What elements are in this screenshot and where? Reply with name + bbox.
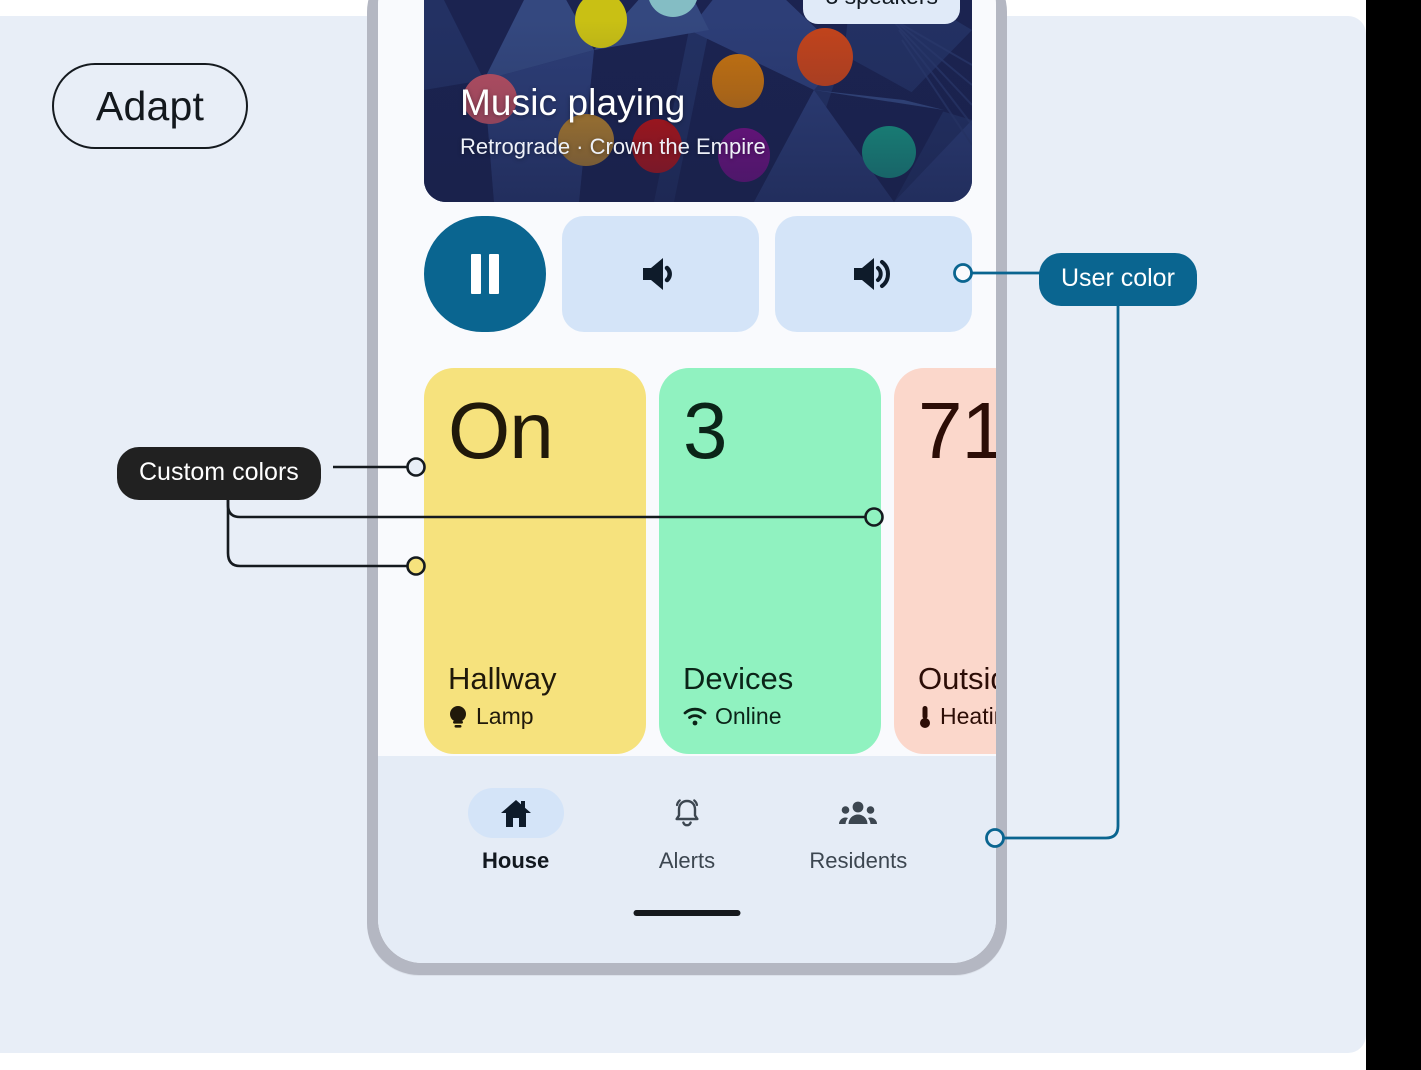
people-icon (839, 800, 877, 826)
pause-icon (468, 254, 502, 294)
pause-button[interactable] (424, 216, 546, 332)
tile-name: Hallway (448, 661, 622, 697)
annotation-custom-colors: Custom colors (117, 447, 321, 500)
tile-status: Lamp (448, 703, 622, 730)
home-icon (500, 798, 532, 828)
nav-item-house[interactable]: House (430, 788, 601, 874)
volume-up-button[interactable] (775, 216, 972, 332)
adapt-chip-label: Adapt (96, 83, 204, 130)
volume-down-button[interactable] (562, 216, 759, 332)
nav-item-alerts[interactable]: Alerts (601, 788, 772, 874)
nav-pill-alerts (639, 788, 735, 838)
tile-value: 71 (918, 394, 996, 468)
nav-label-house: House (482, 848, 549, 874)
media-card[interactable]: Music playing Retrograde · Crown the Emp… (424, 0, 972, 202)
tile-devices[interactable]: 3 Devices Online (659, 368, 881, 754)
home-indicator (634, 910, 741, 916)
volume-down-icon (641, 257, 681, 291)
tile-status-label: Heating (940, 703, 996, 730)
speakers-badge[interactable]: 3 speakers (803, 0, 960, 24)
lamp-icon (448, 705, 468, 729)
nav-label-alerts: Alerts (659, 848, 715, 874)
music-note-icon (519, 0, 563, 6)
tile-status-label: Online (715, 703, 781, 730)
tile-status-label: Lamp (476, 703, 534, 730)
status-tiles: On Hallway Lamp (424, 368, 996, 754)
nav-label-residents: Residents (809, 848, 907, 874)
adapt-chip: Adapt (52, 63, 248, 149)
bottom-navigation: House Alerts (378, 756, 996, 963)
media-subtitle: Retrograde · Crown the Empire (460, 134, 766, 160)
nav-item-residents[interactable]: Residents (773, 788, 944, 874)
volume-up-icon (852, 257, 896, 291)
tile-value: On (448, 394, 622, 468)
tile-status: Online (683, 703, 857, 730)
tile-name: Devices (683, 661, 857, 697)
media-title: Music playing (460, 82, 685, 124)
tile-name: Outside (918, 661, 996, 697)
annotation-user-color: User color (1039, 253, 1197, 306)
wifi-icon (683, 707, 707, 727)
tile-hallway[interactable]: On Hallway Lamp (424, 368, 646, 754)
nav-pill-house (468, 788, 564, 838)
screenshot-root: Adapt (0, 0, 1421, 1070)
tile-outside[interactable]: 71 Outside Heating (894, 368, 996, 754)
tile-value: 3 (683, 394, 857, 468)
thermometer-icon (918, 705, 932, 729)
phone-screen: Music playing Retrograde · Crown the Emp… (378, 0, 996, 963)
tile-status: Heating (918, 703, 996, 730)
transport-controls (424, 216, 972, 332)
nav-pill-residents (810, 788, 906, 838)
phone-frame: Music playing Retrograde · Crown the Emp… (367, 0, 1007, 975)
right-gutter (1366, 0, 1421, 1070)
bell-icon (671, 797, 703, 829)
